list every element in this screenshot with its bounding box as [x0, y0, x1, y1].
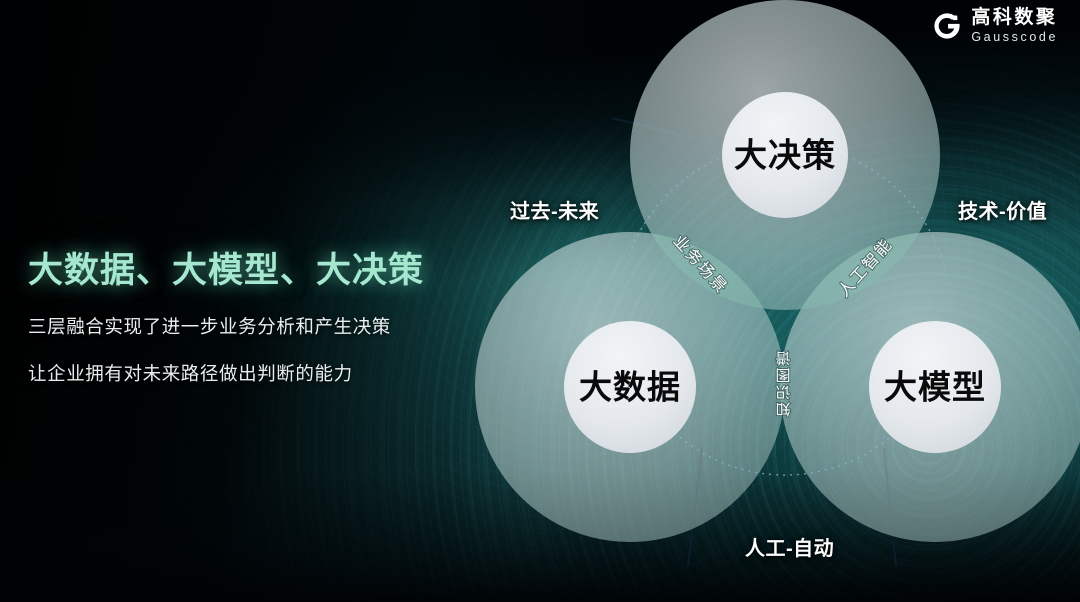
- venn-label-decision: 大决策: [734, 137, 836, 174]
- headline-block: 大数据、大模型、大决策 三层融合实现了进一步业务分析和产生决策 让企业拥有对未来…: [28, 250, 458, 386]
- subtitle-line-2: 让企业拥有对未来路径做出判断的能力: [28, 360, 458, 386]
- venn-axis-label-past-future: 过去-未来: [510, 195, 599, 224]
- brand-name-cn: 高科数聚: [971, 8, 1058, 27]
- venn-axis-label-manual-auto: 人工-自动: [745, 532, 834, 561]
- brand-logo: 高科数聚 Gausscode: [932, 8, 1058, 44]
- brand-logo-text: 高科数聚 Gausscode: [971, 8, 1058, 44]
- venn-label-bigdata: 大数据: [579, 369, 681, 406]
- venn-axis-label-tech-value: 技术-价值: [958, 195, 1047, 224]
- gausscode-g-mark-icon: [932, 11, 962, 41]
- venn-label-knowledge-graph: 知识图谱: [776, 349, 793, 417]
- slide-canvas: 大决策 大数据 大模型 业务场景 人工智能 知识图谱 过去-未来 技术-价值 人…: [0, 0, 1080, 602]
- subtitle-line-1: 三层融合实现了进一步业务分析和产生决策: [28, 313, 458, 339]
- page-title: 大数据、大模型、大决策: [28, 250, 458, 291]
- venn-label-bigmodel: 大模型: [884, 369, 986, 406]
- brand-name-en: Gausscode: [971, 31, 1058, 44]
